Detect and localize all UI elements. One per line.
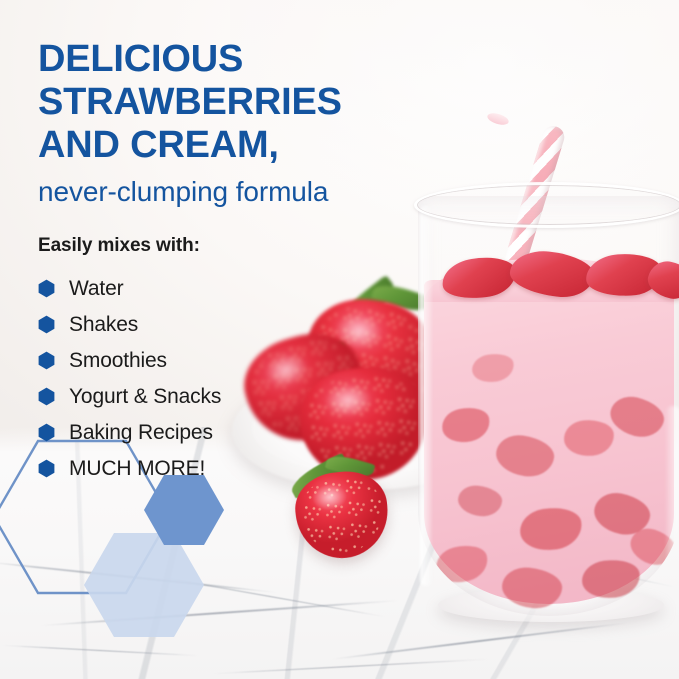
strawberry-chunk xyxy=(606,392,668,442)
hexagon-bullet-icon xyxy=(38,315,55,334)
strawberry-chunk xyxy=(457,484,504,518)
list-item: Shakes xyxy=(38,306,420,342)
pink-smoothie xyxy=(424,280,674,604)
strawberry-chunk xyxy=(470,351,516,386)
subtitle: never-clumping formula xyxy=(38,175,420,209)
hexagon-bullet-icon xyxy=(38,459,55,478)
hexagon-bullet-icon xyxy=(38,279,55,298)
glass-highlight xyxy=(420,206,432,586)
page-title: DELICIOUS STRAWBERRIES AND CREAM, xyxy=(38,38,420,167)
list-item: Water xyxy=(38,270,420,306)
strawberry-chunk xyxy=(439,403,493,446)
glass-rim xyxy=(414,182,679,228)
hexagon-bullet-icon xyxy=(38,387,55,406)
list-item-label: MUCH MORE! xyxy=(69,458,205,479)
list-item: Baking Recipes xyxy=(38,414,420,450)
list-item-label: Yogurt & Snacks xyxy=(69,386,221,407)
glass-highlight xyxy=(666,406,679,616)
drinking-glass xyxy=(418,196,679,616)
strawberry-chunk xyxy=(493,432,556,480)
copy-block: DELICIOUS STRAWBERRIES AND CREAM, never-… xyxy=(0,0,420,486)
strawberry-chunk xyxy=(517,503,585,554)
list-item-label: Smoothies xyxy=(69,350,167,371)
list-item-label: Baking Recipes xyxy=(69,422,213,443)
strawberry-chunk xyxy=(563,418,616,458)
list-item-label: Water xyxy=(69,278,123,299)
hexagon-bullet-icon xyxy=(38,423,55,442)
mixes-with-label: Easily mixes with: xyxy=(38,235,420,257)
hexagon-bullet-icon xyxy=(38,351,55,370)
product-banner: DELICIOUS STRAWBERRIES AND CREAM, never-… xyxy=(0,0,679,679)
list-item-label: Shakes xyxy=(69,314,138,335)
mixes-with-list: Water Shakes Smoothies Yogurt & Snacks xyxy=(38,270,420,486)
list-item: Yogurt & Snacks xyxy=(38,378,420,414)
list-item: MUCH MORE! xyxy=(38,450,420,486)
list-item: Smoothies xyxy=(38,342,420,378)
